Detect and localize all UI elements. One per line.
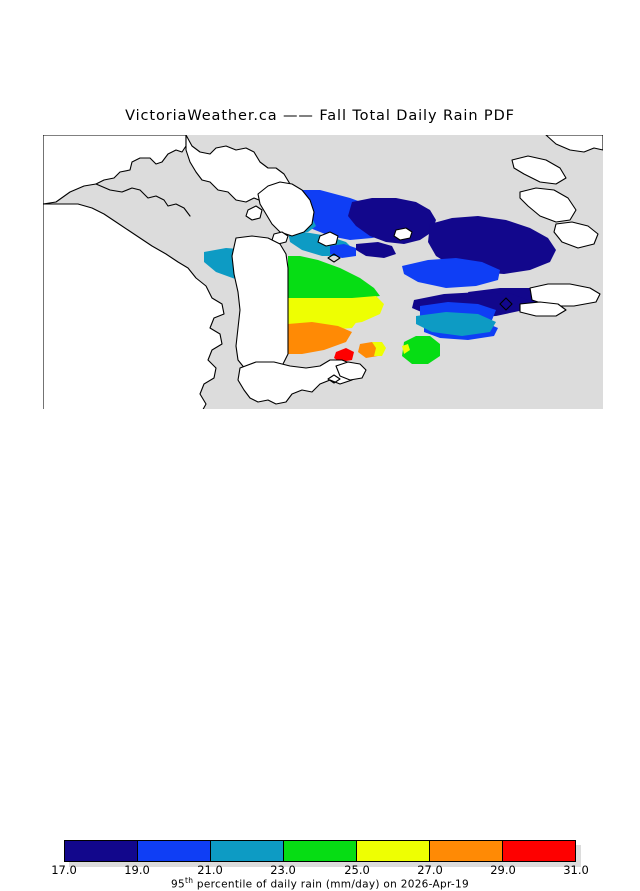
colorbar: 17.0 19.0 21.0 23.0 25.0 27.0 29.0 31.0 … [0,416,640,480]
colorbar-tick-7: 31.0 [563,863,589,877]
colorbar-caption: 95th percentile of daily rain (mm/day) o… [0,876,640,891]
colorbar-caption-superscript: th [185,876,193,885]
colorbar-band-19-21[interactable] [138,841,211,861]
map-mask-left [0,128,43,413]
rain-percentile-map[interactable] [0,128,640,413]
colorbar-band-29-31[interactable] [503,841,575,861]
colorbar-caption-rest: percentile of daily rain (mm/day) on 202… [193,879,469,891]
colorbar-band-27-29[interactable] [430,841,503,861]
colorbar-tick-5: 27.0 [417,863,443,877]
map-mask-top [0,128,640,135]
colorbar-bands[interactable] [64,840,576,862]
colorbar-tick-4: 25.0 [344,863,370,877]
weather-map-screen: VictoriaWeather.ca —— Fall Total Daily R… [0,0,640,480]
map-mask-bottom [0,409,640,413]
colorbar-tick-2: 21.0 [197,863,223,877]
colorbar-tick-1: 19.0 [124,863,150,877]
map-mask-right [603,128,640,413]
coast-islet-ne-hole-b [394,228,412,240]
colorbar-band-17-19[interactable] [65,841,138,861]
coast-center-white-tongue [232,236,288,374]
map-panel[interactable] [0,128,640,413]
colorbar-tick-labels: 17.0 19.0 21.0 23.0 25.0 27.0 29.0 31.0 [0,863,640,877]
colorbar-caption-prefix: 95 [171,879,185,891]
page-title: VictoriaWeather.ca —— Fall Total Daily R… [0,108,640,124]
colorbar-band-25-27[interactable] [357,841,430,861]
colorbar-band-23-25[interactable] [284,841,357,861]
colorbar-tick-3: 23.0 [270,863,296,877]
colorbar-band-21-23[interactable] [211,841,284,861]
colorbar-tick-6: 29.0 [490,863,516,877]
colorbar-tick-0: 17.0 [51,863,77,877]
